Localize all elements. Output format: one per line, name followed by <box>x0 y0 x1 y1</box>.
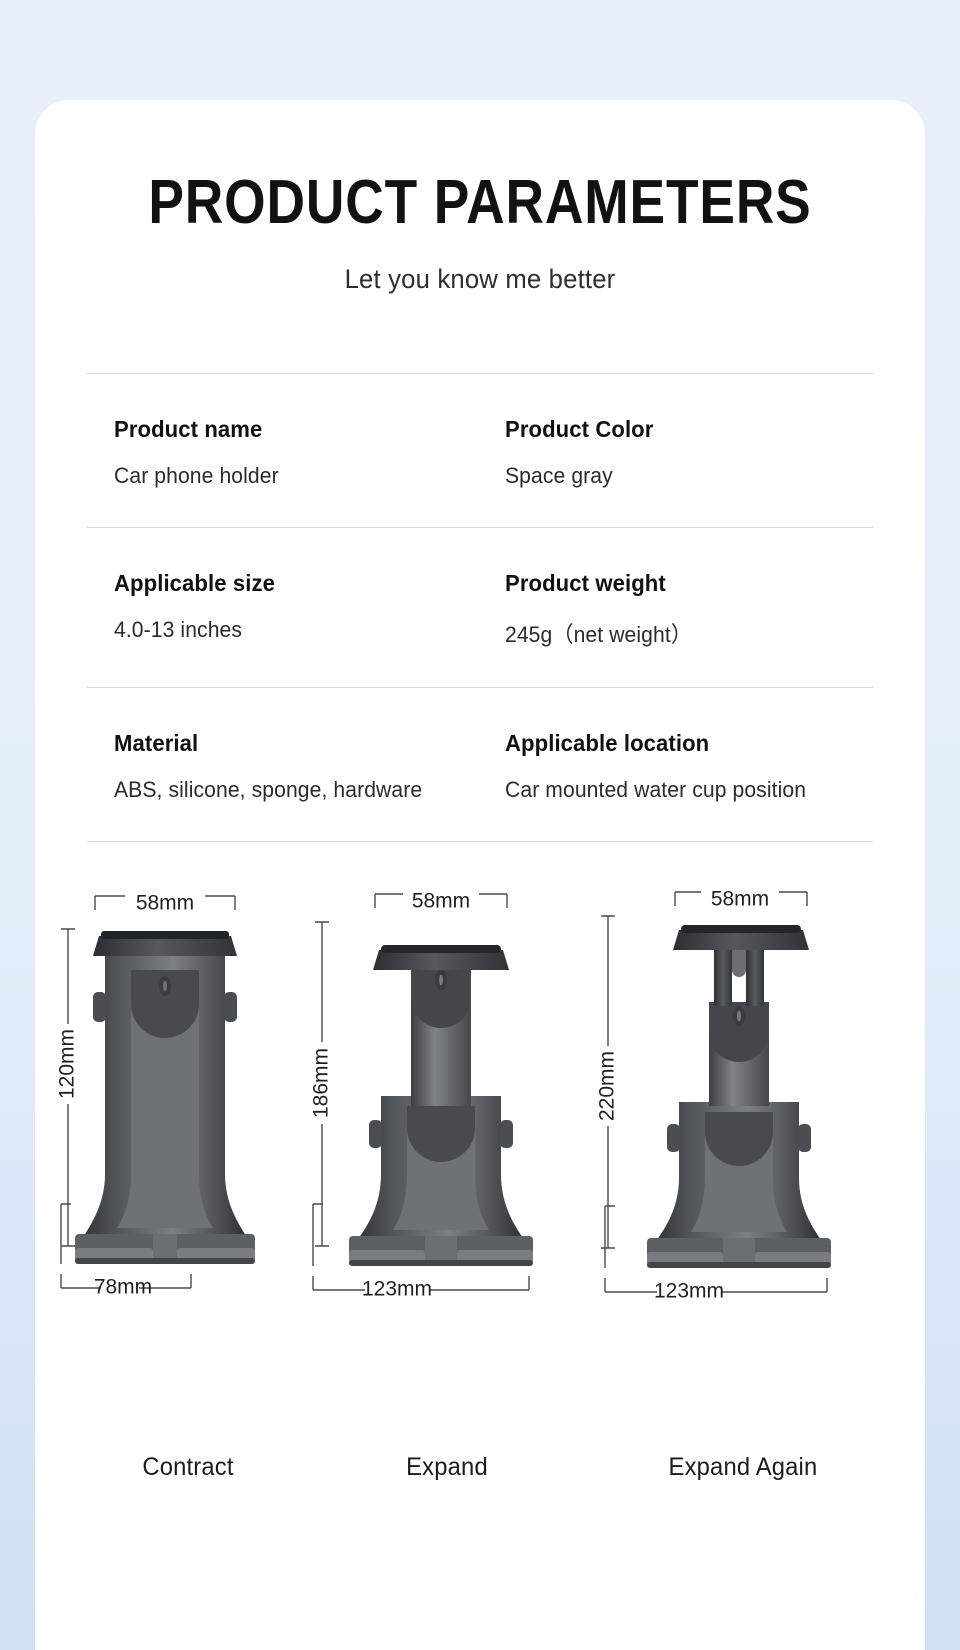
spec-cell-product-weight: Product weight 245g（net weight） <box>480 570 873 649</box>
spec-value: Car phone holder <box>114 463 465 489</box>
table-row: Material ABS, silicone, sponge, hardware… <box>87 688 873 842</box>
spec-cell-material: Material ABS, silicone, sponge, hardware <box>87 730 480 803</box>
product-dimension-diagrams: 58mm 120mm <box>35 864 925 1474</box>
diagram-caption: Contract <box>50 1453 326 1482</box>
product-illustration-contract <box>75 931 255 1264</box>
spec-label: Product weight <box>505 570 858 597</box>
specs-table: Product name Car phone holder Product Co… <box>87 373 873 842</box>
diagram-caption: Expand <box>305 1453 590 1482</box>
spec-label: Product name <box>114 416 465 443</box>
spec-value: 245g（net weight） <box>505 617 858 649</box>
dimension-label-height: 186mm <box>310 1048 333 1118</box>
spec-label: Material <box>114 730 465 757</box>
spec-value: 4.0-13 inches <box>114 617 465 643</box>
dimension-label-top-width: 58mm <box>412 890 470 913</box>
spec-label: Product Color <box>505 416 858 443</box>
dimension-label-base-width: 78mm <box>94 1276 152 1299</box>
dimension-label-height: 120mm <box>56 1029 79 1099</box>
product-illustration-expand <box>349 945 533 1266</box>
spec-label: Applicable size <box>114 570 465 597</box>
spec-cell-applicable-size: Applicable size 4.0-13 inches <box>87 570 480 649</box>
table-row: Applicable size 4.0-13 inches Product we… <box>87 528 873 688</box>
spec-value: Space gray <box>505 463 858 489</box>
spec-value: ABS, silicone, sponge, hardware <box>114 777 465 803</box>
table-row: Product name Car phone holder Product Co… <box>87 374 873 528</box>
diagram-expand-again: 58mm 220mm <box>583 874 903 1474</box>
dimension-label-base-width: 123mm <box>362 1278 432 1301</box>
spec-cell-product-name: Product name Car phone holder <box>87 416 480 489</box>
diagram-contract: 58mm 120mm <box>43 874 333 1474</box>
page-subtitle: Let you know me better <box>57 264 903 295</box>
dimension-label-top-width: 58mm <box>136 892 194 915</box>
diagram-expand: 58mm 186mm <box>297 874 597 1474</box>
spec-label: Applicable location <box>505 730 858 757</box>
diagram-caption: Expand Again <box>591 1453 895 1482</box>
spec-value: Car mounted water cup position <box>505 777 858 803</box>
page-title: PRODUCT PARAMETERS <box>97 172 862 234</box>
content-card: PRODUCT PARAMETERS Let you know me bette… <box>35 100 925 1650</box>
dimension-label-base-width: 123mm <box>654 1280 724 1303</box>
spec-cell-product-color: Product Color Space gray <box>480 416 873 489</box>
dimension-label-height: 220mm <box>596 1051 619 1121</box>
page-header: PRODUCT PARAMETERS Let you know me bette… <box>35 100 925 295</box>
spec-cell-applicable-location: Applicable location Car mounted water cu… <box>480 730 873 803</box>
product-illustration-expand-again <box>647 925 831 1268</box>
dimension-label-top-width: 58mm <box>711 888 769 911</box>
